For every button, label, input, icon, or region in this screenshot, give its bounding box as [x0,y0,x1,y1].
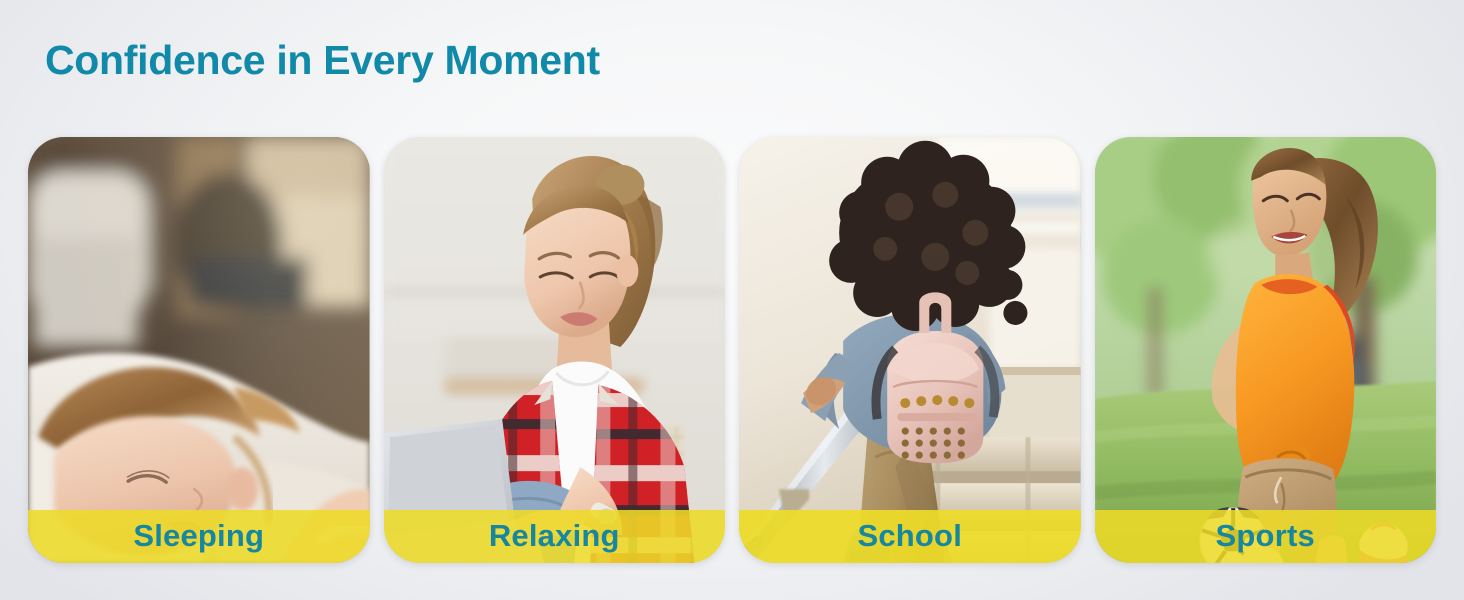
caption-band-sports: Sports [1095,510,1437,563]
caption-label-sports: Sports [1216,520,1315,551]
page-title: Confidence in Every Moment [45,38,600,83]
caption-band-relaxing: Relaxing [384,510,726,563]
activity-card-relaxing[interactable]: Relaxing [384,137,726,563]
photo-relaxing [384,137,726,563]
caption-label-sleeping: Sleeping [133,520,264,551]
photo-sleeping [28,137,370,563]
caption-label-relaxing: Relaxing [489,520,620,551]
activity-card-row: Sleeping [28,137,1436,563]
photo-sports [1095,137,1437,563]
photo-school [739,137,1081,563]
activity-card-school[interactable]: School [739,137,1081,563]
slide-canvas: Confidence in Every Moment [0,0,1464,600]
caption-band-sleeping: Sleeping [28,510,370,563]
activity-card-sleeping[interactable]: Sleeping [28,137,370,563]
caption-label-school: School [857,520,962,551]
activity-card-sports[interactable]: Sports [1095,137,1437,563]
caption-band-school: School [739,510,1081,563]
